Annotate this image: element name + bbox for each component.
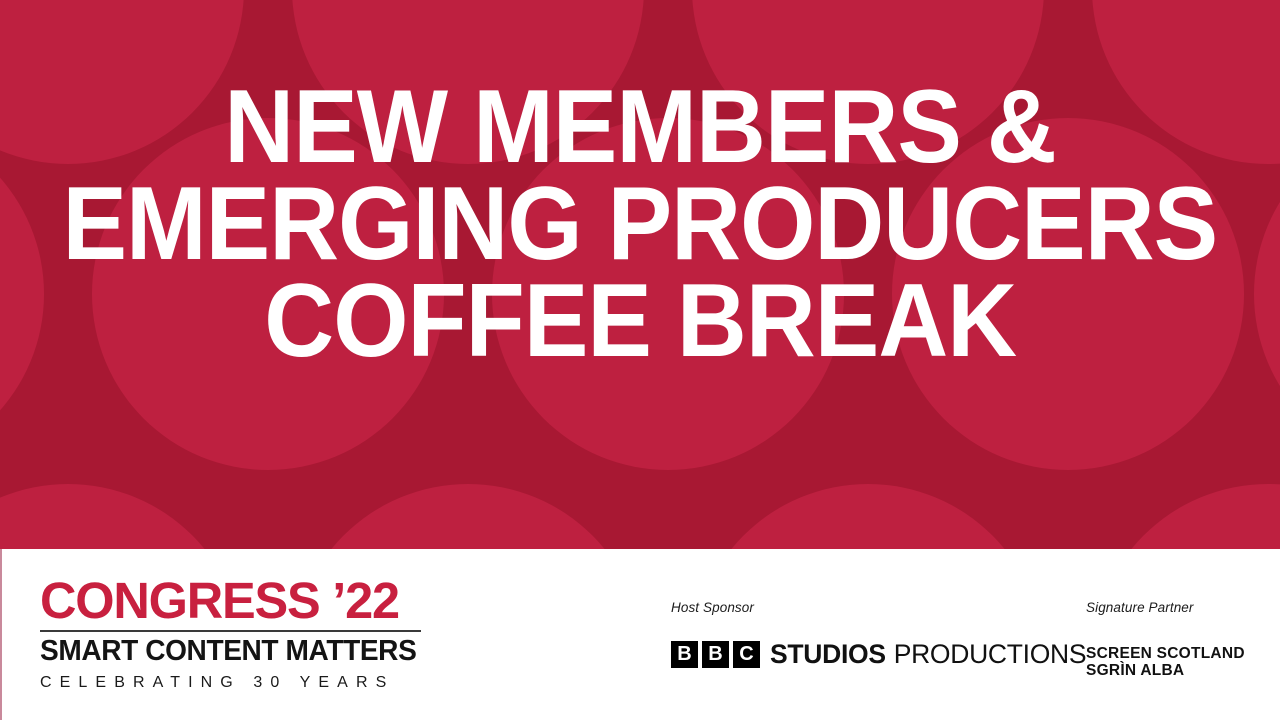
signature-partner-block: Signature Partner SCREEN SCOTLAND SGRÌN … — [1086, 600, 1245, 680]
bbc-letter-box: B — [702, 641, 729, 668]
bbc-letter-box: C — [733, 641, 760, 668]
bbc-productions-word: PRODUCTIONS — [894, 641, 1087, 668]
screen-scotland-line-1: SCREEN SCOTLAND — [1086, 645, 1245, 662]
signature-partner-label: Signature Partner — [1086, 600, 1245, 615]
slide-stage: NEW MEMBERS & EMERGING PRODUCERS COFFEE … — [0, 0, 1280, 549]
host-sponsor-block: Host Sponsor B B C STUDIOS PRODUCTIONS — [671, 600, 1086, 668]
congress-wordmark: CONGRESS ’22 — [40, 575, 420, 626]
bbc-blocks: B B C — [671, 641, 760, 668]
title-line-2: EMERGING PRODUCERS — [63, 176, 1218, 273]
slide-title: NEW MEMBERS & EMERGING PRODUCERS COFFEE … — [0, 0, 1280, 549]
congress-logo: CONGRESS ’22 SMART CONTENT MATTERS CELEB… — [40, 575, 424, 691]
congress-divider-rule — [40, 630, 421, 632]
congress-tagline: SMART CONTENT MATTERS — [40, 637, 418, 666]
screen-scotland-line-2: SGRÌN ALBA — [1086, 662, 1245, 679]
presentation-slide: NEW MEMBERS & EMERGING PRODUCERS COFFEE … — [0, 0, 1280, 720]
screen-scotland-logo: SCREEN SCOTLAND SGRÌN ALBA — [1086, 645, 1245, 680]
bbc-letter-box: B — [671, 641, 698, 668]
slide-footer: CONGRESS ’22 SMART CONTENT MATTERS CELEB… — [0, 549, 1280, 720]
bbc-studios-productions-logo: B B C STUDIOS PRODUCTIONS — [671, 641, 1086, 668]
host-sponsor-label: Host Sponsor — [671, 600, 1086, 615]
title-line-3: COFFEE BREAK — [264, 273, 1016, 370]
congress-subline: CELEBRATING 30 YEARS — [40, 675, 424, 691]
bbc-studios-word: STUDIOS — [770, 641, 886, 668]
title-line-1: NEW MEMBERS & — [224, 79, 1056, 176]
